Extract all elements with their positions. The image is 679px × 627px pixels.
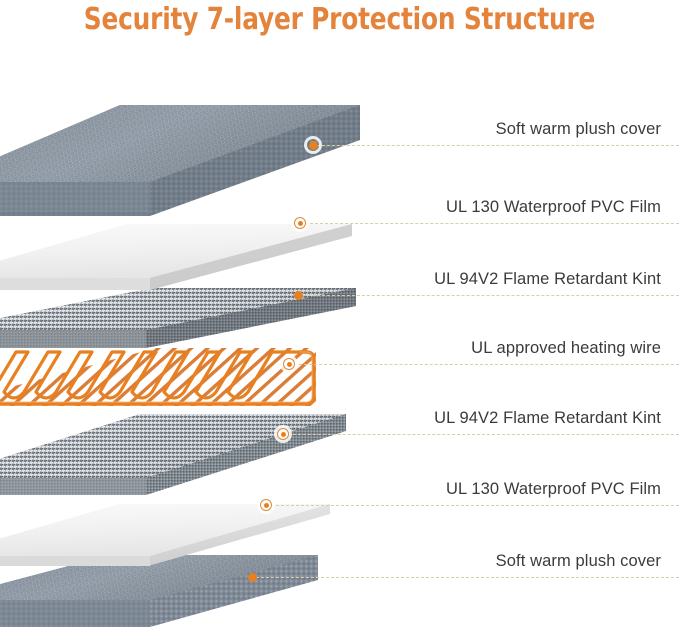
- leader-line-icon: [288, 434, 679, 435]
- leader-line-icon: [271, 505, 679, 506]
- layer-stack-illustration: [0, 0, 679, 627]
- leader-line-icon: [294, 364, 679, 365]
- leader-line-icon: [302, 295, 679, 296]
- layer-label-5: UL 94V2 Flame Retardant Kint: [434, 409, 661, 428]
- layer-7-plush-bottom: [0, 555, 318, 627]
- heating-wire-serpentine: [0, 352, 314, 404]
- layer-label-7: Soft warm plush cover: [496, 552, 661, 571]
- layer-1-plush-top: [0, 105, 360, 216]
- callout-dot-icon[interactable]: [294, 217, 306, 229]
- layer-label-3: UL 94V2 Flame Retardant Kint: [434, 270, 661, 289]
- leader-line-icon: [317, 145, 679, 146]
- leader-line-icon: [256, 577, 679, 578]
- layer-6-pvc-film-bottom: [0, 504, 330, 566]
- callout-dot-icon[interactable]: [277, 428, 289, 440]
- callout-dot-icon[interactable]: [283, 358, 295, 370]
- layer-5-flame-retardant-knit: [0, 414, 346, 495]
- layer-label-1: Soft warm plush cover: [496, 120, 661, 139]
- callout-dot-icon[interactable]: [292, 289, 304, 301]
- callout-dot-icon[interactable]: [307, 139, 319, 151]
- layer-2-pvc-film-top: [0, 224, 352, 290]
- callout-dot-icon[interactable]: [246, 571, 258, 583]
- layer-label-2: UL 130 Waterproof PVC Film: [446, 198, 661, 217]
- leader-line-icon: [305, 223, 679, 224]
- layer-4-heating-wire: [0, 340, 340, 420]
- layer-structure-infographic: Security 7-layer Protection Structure: [0, 0, 679, 627]
- callout-dot-icon[interactable]: [260, 499, 272, 511]
- layer-label-4: UL approved heating wire: [471, 339, 661, 358]
- layer-label-6: UL 130 Waterproof PVC Film: [446, 480, 661, 499]
- page-title: Security 7-layer Protection Structure: [27, 2, 652, 37]
